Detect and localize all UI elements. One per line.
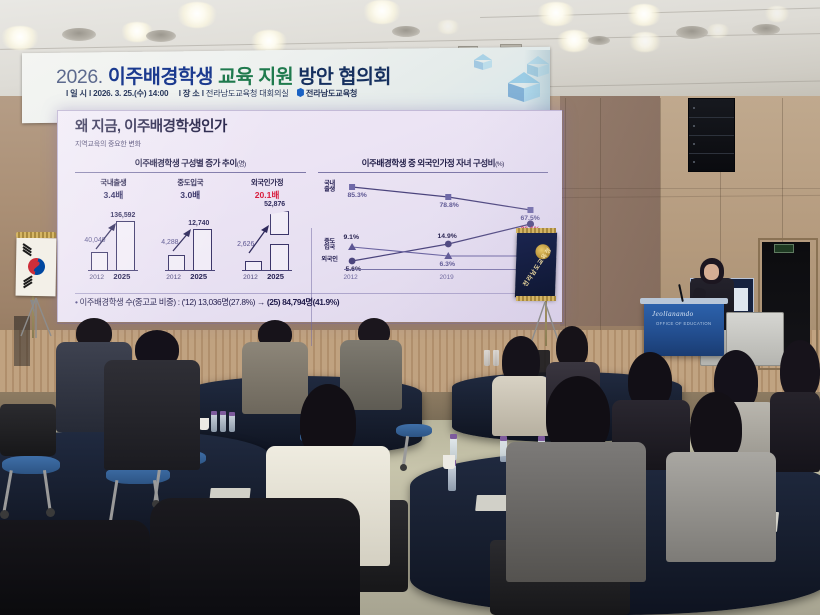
bar-year-label: 2012: [166, 274, 181, 281]
banner-meta: l 일 시 l 2026. 3. 25.(수) 14:00 l 장 소 l 전라…: [66, 87, 357, 99]
korea-flag: [15, 238, 56, 297]
bar-value-2025: 12,740: [188, 220, 209, 227]
ceiling-downlight: [436, 20, 460, 34]
bar-year-label: 2025: [267, 272, 284, 281]
x-axis-label: 2012: [344, 274, 358, 281]
ceiling-downlight: [764, 6, 790, 22]
bullet-dot-icon: •: [75, 297, 78, 307]
divider: [318, 172, 549, 173]
bar-value-2025: 136,592: [110, 212, 135, 219]
water-bottle[interactable]: [229, 415, 235, 432]
ceiling-recess: [146, 30, 176, 42]
bar-2025: [193, 229, 212, 271]
ceiling-recess: [62, 28, 96, 41]
bottle-cap: [220, 411, 226, 415]
bottle-cap: [500, 436, 507, 441]
bar-chart-title: 이주배경학생 구성별 증가 추이(명): [75, 157, 306, 169]
projection-screen: 왜 지금, 이주배경학생인가 지역교육의 중요한 변화 이주배경학생 구성별 증…: [57, 110, 562, 322]
line-chart-plot: 국내출생 중도입국 외국인 85.3% 78.8% 67.5% 9.1% 6.3…: [318, 177, 549, 281]
banner-title: 2026. 이주배경학생 교육 지원 방안 협의회: [56, 60, 391, 89]
bar-group: 중도입국 3.0배 4,288 12,740: [163, 177, 217, 281]
banner-org-name: 전라남도교육청: [306, 89, 357, 98]
series-label-domestic: 국내출생: [318, 181, 342, 194]
line-array-speaker: [688, 98, 735, 172]
bar-year-label: 2012: [89, 274, 104, 281]
ceiling-recess: [676, 26, 708, 39]
bar-year-label: 2012: [243, 274, 258, 281]
bar-2012: [91, 252, 108, 271]
education-office-logo-icon: [297, 88, 304, 97]
point-label: 78.8%: [440, 202, 459, 209]
banner-time-value: 2026. 3. 25.(수) 14:00: [93, 89, 168, 98]
water-bottle[interactable]: [211, 414, 217, 432]
series-label-midentry: 중도입국: [318, 239, 342, 252]
bullet-to: (25) 84,794명(41.9%): [267, 297, 339, 307]
bar-year-label: 2025: [190, 272, 207, 281]
paper-cup[interactable]: [199, 418, 209, 430]
bar-group-multiplier: 3.0배: [163, 189, 217, 201]
ceiling-downlight: [362, 0, 402, 24]
ceiling-downlight: [626, 4, 662, 26]
bar-2012: [168, 255, 185, 271]
ceiling-downlight: [536, 2, 576, 26]
slide-title: 왜 지금, 이주배경학생인가: [75, 120, 548, 136]
bullet-from: ('12) 13,036명(27.8%): [182, 297, 255, 307]
bar-chart-unit: (명): [237, 161, 246, 168]
presentation-slide: 왜 지금, 이주배경학생인가 지역교육의 중요한 변화 이주배경학생 구성별 증…: [57, 110, 562, 322]
banner-title-dark: 방안 협의회: [298, 66, 391, 88]
bottle-cap: [450, 434, 457, 439]
divider: [75, 293, 548, 294]
taegeuk-icon: [25, 255, 48, 278]
point-label: 6.3%: [440, 261, 456, 268]
ceiling-recess: [392, 26, 420, 37]
point-label: 85.3%: [348, 192, 367, 199]
line-chart-unit: (%): [495, 161, 504, 168]
x-axis-label: 2019: [440, 274, 454, 281]
flag-tripod: [16, 296, 56, 340]
exit-sign: [774, 244, 794, 253]
conference-hall-photo: 2026. 이주배경학생 교육 지원 방안 협의회 l 일 시 l 2026. …: [0, 0, 820, 615]
bar-group-multiplier: 20.1배: [240, 189, 294, 201]
flag-fringe: [516, 228, 556, 233]
arrow-up-icon: [94, 221, 120, 251]
water-bottle[interactable]: [493, 350, 499, 366]
slide-charts-row: 이주배경학생 구성별 증가 추이(명) 국내출생 3.4배 40,040: [75, 157, 548, 281]
banner-place-label: l 장 소 l: [179, 89, 204, 98]
water-bottle[interactable]: [484, 350, 490, 366]
ceiling-downlight: [556, 30, 592, 52]
bar-chart-panel: 이주배경학생 구성별 증가 추이(명) 국내출생 3.4배 40,040: [75, 157, 306, 281]
banner-year: 2026.: [56, 66, 103, 88]
slide-bullet: • 이주배경학생 수(중고교 비중) : ('12) 13,036명(27.8%…: [75, 296, 548, 308]
panel-divider: [311, 228, 312, 346]
line-chart-title: 이주배경학생 중 외국인가정 자녀 구성비(%): [318, 157, 549, 169]
arrow-right-icon: →: [257, 297, 265, 307]
bar-value-2025: 52,876: [264, 201, 285, 208]
bar-year-label: 2025: [113, 272, 130, 281]
banner-title-green: 교육 지원: [218, 66, 293, 88]
paper-cup[interactable]: [443, 455, 455, 469]
wall-panel-line: [600, 98, 601, 348]
bar-group-name: 외국인가정: [240, 177, 294, 188]
banner-time-label: l 일 시 l: [66, 89, 91, 98]
wall-panel-line: [560, 188, 820, 189]
line-chart-panel: 이주배경학생 중 외국인가정 자녀 구성비(%): [318, 157, 549, 281]
bar-chart-plot: 국내출생 3.4배 40,040 136,592: [75, 177, 306, 281]
slide-subtitle: 지역교육의 중요한 변화: [75, 139, 548, 149]
point-label: 9.1%: [344, 234, 360, 241]
ceiling-recess: [752, 24, 780, 35]
bottle-cap: [538, 436, 545, 441]
water-bottle[interactable]: [220, 414, 226, 432]
bullet-label: 이주배경학생 수(중고교 비중) :: [79, 297, 179, 307]
point-label: 14.9%: [438, 233, 457, 240]
flag-fringe: [16, 232, 56, 238]
podium-script-text: Jeollanamdo: [652, 310, 694, 318]
series-label-foreign: 외국인: [318, 257, 342, 264]
banner-title-highlight: 이주배경학생: [108, 66, 213, 88]
education-office-flag: 전라남도교육청: [515, 231, 557, 298]
bar-group: 국내출생 3.4배 40,040 136,592: [86, 177, 140, 281]
podium-sub-text: OFFICE OF EDUCATION: [656, 321, 711, 326]
bar-group-multiplier: 3.4배: [86, 189, 140, 201]
point-label: 67.5%: [521, 215, 540, 222]
ceiling-downlight: [176, 2, 218, 28]
podium-top: [640, 298, 728, 304]
bar-chart-title-text: 이주배경학생 구성별 증가 추이: [135, 158, 237, 168]
bar-group-name: 중도입국: [163, 177, 217, 188]
ceiling-recess: [588, 36, 610, 45]
arrow-up-icon: [171, 227, 195, 253]
bottle-cap: [229, 412, 235, 416]
line-chart-title-text: 이주배경학생 중 외국인가정 자녀 구성비: [362, 158, 495, 168]
ceiling-downlight: [628, 32, 662, 52]
bar-group-name: 국내출생: [86, 177, 140, 188]
ceiling-downlight: [706, 24, 730, 38]
divider: [75, 172, 306, 173]
speaker-face: [704, 264, 719, 280]
banner-place-value: 전라남도교육청 대회의실: [206, 89, 289, 98]
bar-group: 외국인가정 20.1배 2,626 52,876: [240, 177, 294, 281]
bottle-cap: [211, 411, 217, 415]
ceiling-downlight: [0, 26, 40, 50]
arrow-up-icon: [247, 223, 273, 255]
